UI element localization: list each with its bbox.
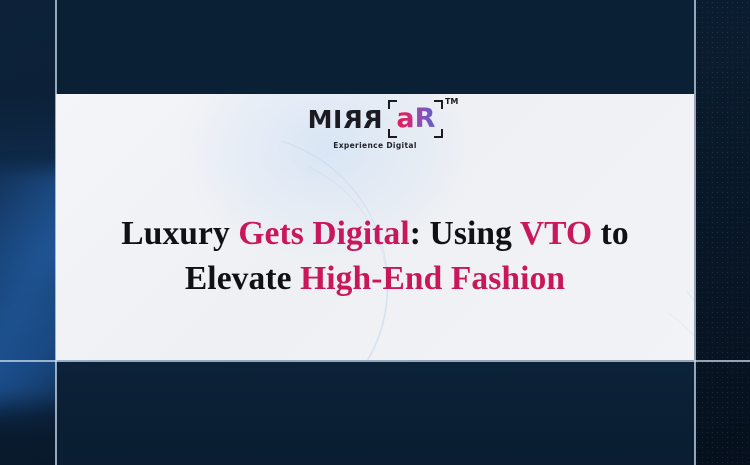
trademark-symbol: TM — [445, 97, 458, 106]
bracket-bottom-right-icon — [434, 129, 443, 138]
background-top-band — [56, 0, 695, 94]
logo-wordmark: MIRR — [308, 107, 383, 132]
content-panel: MIRR aR TM Experience Digital Luxury Get… — [56, 94, 694, 360]
logo-wordmark-mirrored: RR — [343, 107, 383, 132]
bracket-bottom-left-icon — [388, 129, 397, 138]
headline-accent: VTO — [520, 215, 592, 252]
brand-tagline: Experience Digital — [333, 141, 417, 150]
logo-row: MIRR aR TM — [308, 104, 443, 134]
bracket-top-left-icon — [388, 100, 397, 109]
headline-accent: Gets Digital — [238, 215, 409, 252]
headline-text: to — [592, 215, 629, 252]
background-bottom-band — [56, 361, 695, 465]
brand-logo[interactable]: MIRR aR TM Experience Digital — [56, 104, 694, 150]
logo-ar-text: aR — [396, 103, 435, 134]
frame-rule-bottom — [0, 360, 750, 362]
headline-text: : Using — [410, 215, 520, 252]
headline-text: Elevate — [185, 260, 300, 297]
bracket-top-right-icon — [434, 100, 443, 109]
logo-ar-badge: aR TM — [389, 104, 442, 134]
headline-line-1: Luxury Gets Digital: Using VTO to — [121, 215, 628, 252]
blog-banner: MIRR aR TM Experience Digital Luxury Get… — [0, 0, 750, 465]
headline-accent: High-End Fashion — [300, 260, 565, 297]
page-title: Luxury Gets Digital: Using VTO to Elevat… — [84, 212, 666, 302]
headline-text: Luxury — [121, 215, 238, 252]
frame-rule-right — [694, 0, 696, 465]
headline-line-2: Elevate High-End Fashion — [185, 260, 565, 297]
logo-wordmark-prefix: MI — [308, 105, 343, 134]
